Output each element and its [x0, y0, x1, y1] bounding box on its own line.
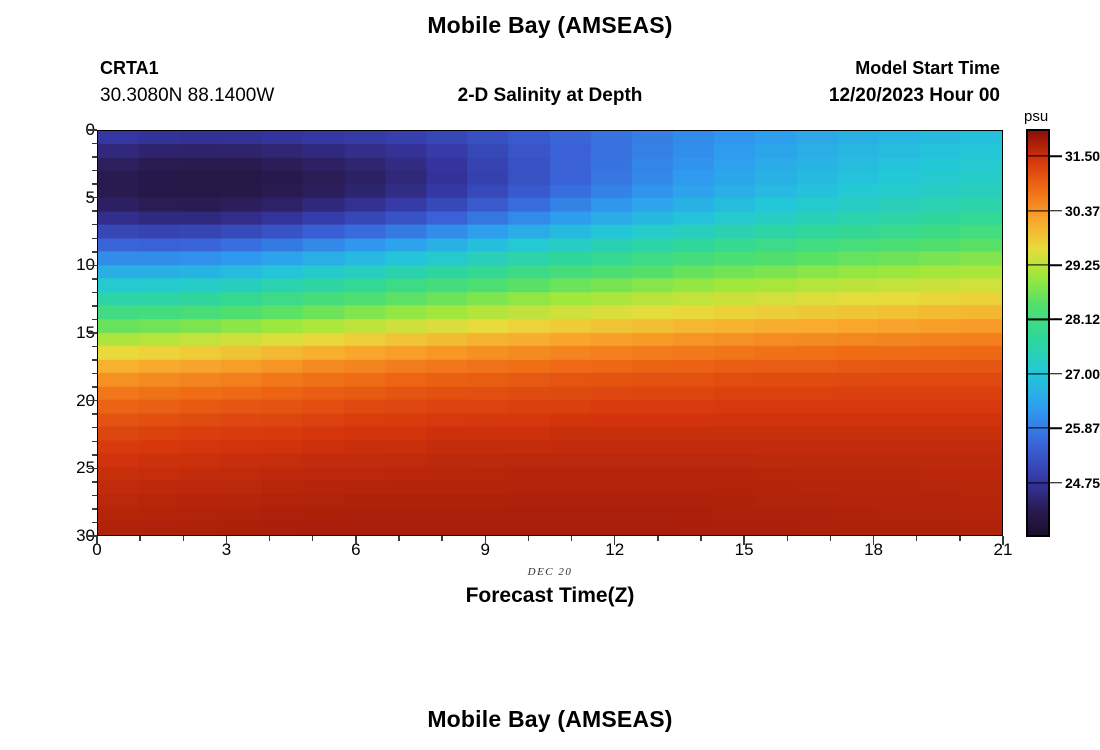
y-tick-mark-minor [92, 224, 97, 226]
x-tick-mark [355, 536, 357, 545]
model-start-time-value: 12/20/2023 Hour 00 [829, 85, 1000, 107]
colorbar-canvas [1028, 131, 1048, 535]
y-tick-mark-minor [92, 183, 97, 185]
y-tick-label: 20 [35, 391, 95, 411]
y-tick-mark-minor [92, 522, 97, 524]
salinity-depth-chart: Mobile Bay (AMSEAS) CRTA1 30.3080N 88.14… [0, 0, 1100, 750]
x-tick-mark-minor [183, 536, 185, 541]
y-tick-mark-minor [92, 441, 97, 443]
colorbar-tick-inner [1026, 319, 1050, 320]
y-tick-mark-minor [92, 508, 97, 510]
x-tick-mark-minor [398, 536, 400, 541]
y-tick-mark-minor [92, 156, 97, 158]
x-tick-mark [1002, 536, 1004, 545]
y-tick-mark-minor [92, 413, 97, 415]
y-tick-label: 25 [35, 458, 95, 478]
x-tick-mark-minor [139, 536, 141, 541]
y-tick-mark-minor [92, 210, 97, 212]
x-tick-mark [743, 536, 745, 545]
y-tick-label: 15 [35, 323, 95, 343]
model-start-time-label: Model Start Time [855, 58, 1000, 79]
x-tick-mark-minor [528, 536, 530, 541]
colorbar-tick-label: 30.375 [1065, 203, 1100, 219]
y-tick-mark-minor [92, 427, 97, 429]
colorbar-tick-label: 25.875 [1065, 420, 1100, 436]
y-tick-mark-minor [92, 481, 97, 483]
y-tick-mark-minor [92, 373, 97, 375]
y-tick-mark [88, 468, 97, 470]
x-tick-mark-minor [830, 536, 832, 541]
colorbar-tick-inner [1026, 428, 1050, 429]
x-tick-mark [226, 536, 228, 545]
y-tick-mark-minor [92, 170, 97, 172]
colorbar-tick-label: 28.125 [1065, 311, 1100, 327]
heatmap-plot-area [97, 130, 1003, 536]
x-tick-mark [873, 536, 875, 545]
y-tick-label: 10 [35, 255, 95, 275]
colorbar-tick-mark [1050, 319, 1062, 321]
colorbar-tick-label: 27.000 [1065, 366, 1100, 382]
station-id: CRTA1 [100, 58, 159, 79]
x-tick-mark-minor [700, 536, 702, 541]
y-tick-label: 5 [35, 188, 95, 208]
colorbar-tick-label: 24.750 [1065, 475, 1100, 491]
y-tick-mark-minor [92, 386, 97, 388]
colorbar-tick-inner [1026, 373, 1050, 374]
x-tick-mark-minor [441, 536, 443, 541]
colorbar-tick-label: 31.500 [1065, 148, 1100, 164]
colorbar-tick-mark [1050, 210, 1062, 212]
y-tick-mark-minor [92, 143, 97, 145]
x-tick-mark-minor [312, 536, 314, 541]
x-tick-mark-minor [787, 536, 789, 541]
colorbar-tick-mark [1050, 155, 1062, 157]
y-tick-mark-minor [92, 454, 97, 456]
colorbar-tick-inner [1026, 482, 1050, 483]
y-tick-mark [88, 265, 97, 267]
y-tick-mark-minor [92, 495, 97, 497]
colorbar-tick-label: 29.250 [1065, 257, 1100, 273]
colorbar [1026, 129, 1050, 537]
y-tick-mark-minor [92, 319, 97, 321]
x-tick-mark-minor [269, 536, 271, 541]
x-axis-date-annotation: DEC 20 [0, 566, 1100, 578]
salinity-heatmap-canvas [98, 131, 1002, 535]
x-tick-mark-minor [657, 536, 659, 541]
colorbar-tick-inner [1026, 156, 1050, 157]
y-tick-mark [88, 400, 97, 402]
y-tick-mark-minor [92, 305, 97, 307]
colorbar-tick-inner [1026, 210, 1050, 211]
y-tick-mark-minor [92, 238, 97, 240]
page-title: Mobile Bay (AMSEAS) [0, 12, 1100, 39]
y-tick-mark-minor [92, 251, 97, 253]
colorbar-unit-label: psu [1024, 108, 1048, 125]
y-tick-mark-minor [92, 278, 97, 280]
x-tick-mark [614, 536, 616, 545]
y-tick-mark-minor [92, 359, 97, 361]
bottom-caption: Mobile Bay (AMSEAS) [0, 706, 1100, 733]
x-tick-mark-minor [959, 536, 961, 541]
x-tick-mark [485, 536, 487, 545]
colorbar-tick-inner [1026, 264, 1050, 265]
y-tick-mark-minor [92, 346, 97, 348]
y-tick-mark [88, 197, 97, 199]
x-axis-label: Forecast Time(Z) [0, 584, 1100, 608]
x-tick-mark-minor [571, 536, 573, 541]
x-tick-mark-minor [916, 536, 918, 541]
colorbar-tick-mark [1050, 427, 1062, 429]
colorbar-tick-mark [1050, 482, 1062, 484]
y-tick-mark [88, 129, 97, 131]
colorbar-tick-mark [1050, 264, 1062, 266]
colorbar-tick-mark [1050, 373, 1062, 375]
y-tick-mark [88, 332, 97, 334]
y-tick-label: 0 [35, 120, 95, 140]
x-tick-mark [96, 536, 98, 545]
y-tick-mark-minor [92, 292, 97, 294]
